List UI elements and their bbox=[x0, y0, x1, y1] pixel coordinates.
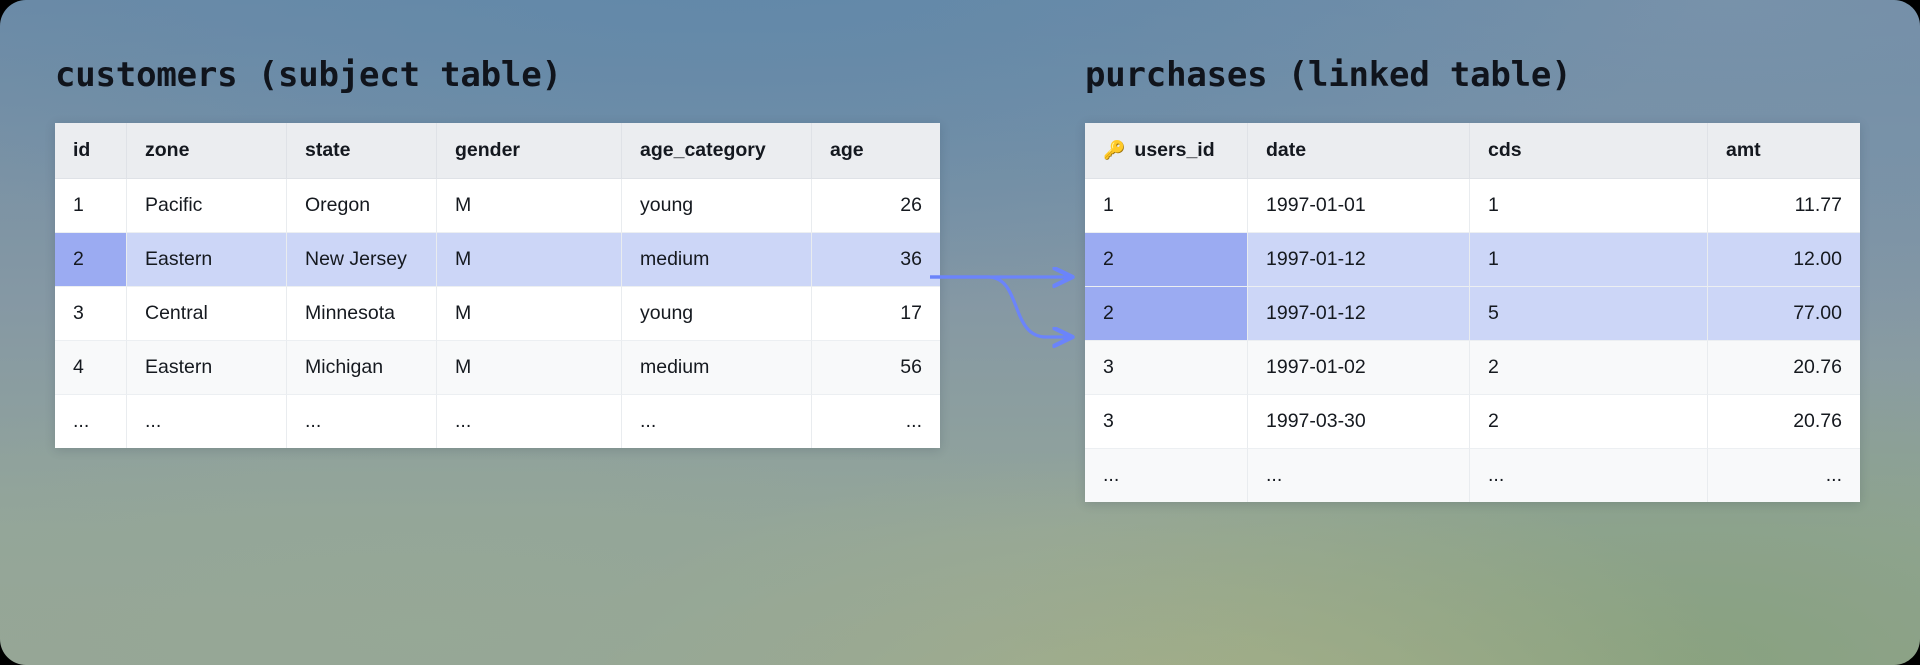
table-row[interactable]: 2 1997-01-12 5 77.00 bbox=[1085, 287, 1860, 341]
cell-amt: 77.00 bbox=[1708, 287, 1860, 341]
cell-date: 1997-01-02 bbox=[1248, 341, 1470, 395]
cell-age-category: young bbox=[622, 179, 812, 233]
cell-amt: 20.76 bbox=[1708, 341, 1860, 395]
diagram-canvas: customers (subject table) id zone state … bbox=[0, 0, 1920, 665]
cell-cds: 2 bbox=[1470, 395, 1708, 449]
cell-state: New Jersey bbox=[287, 233, 437, 287]
cell-users-id: 2 bbox=[1085, 233, 1248, 287]
cell-users-id: 3 bbox=[1085, 395, 1248, 449]
column-header-zone[interactable]: zone bbox=[127, 123, 287, 179]
cell-cds: 2 bbox=[1470, 341, 1708, 395]
column-header-amt[interactable]: amt bbox=[1708, 123, 1860, 179]
cell-age-category: young bbox=[622, 287, 812, 341]
cell-id: 2 bbox=[55, 233, 127, 287]
table-row[interactable]: 4 Eastern Michigan M medium 56 bbox=[55, 341, 940, 395]
cell-gender: ... bbox=[437, 395, 622, 448]
cell-state: Oregon bbox=[287, 179, 437, 233]
cell-zone: Central bbox=[127, 287, 287, 341]
cell-age-category: ... bbox=[622, 395, 812, 448]
cell-users-id: 1 bbox=[1085, 179, 1248, 233]
table-row[interactable]: 3 1997-03-30 2 20.76 bbox=[1085, 395, 1860, 449]
cell-age: 36 bbox=[812, 233, 940, 287]
cell-users-id: ... bbox=[1085, 449, 1248, 502]
cell-cds: 5 bbox=[1470, 287, 1708, 341]
cell-cds: 1 bbox=[1470, 179, 1708, 233]
cell-amt: ... bbox=[1708, 449, 1860, 502]
purchases-panel: purchases (linked table) 🔑users_id date … bbox=[1085, 0, 1860, 502]
purchases-table: 🔑users_id date cds amt 1 1997-01-01 1 11… bbox=[1085, 123, 1860, 502]
cell-age: ... bbox=[812, 395, 940, 448]
cell-age-category: medium bbox=[622, 233, 812, 287]
table-row-ellipsis: ... ... ... ... bbox=[1085, 449, 1860, 502]
cell-date: ... bbox=[1248, 449, 1470, 502]
cell-date: 1997-01-12 bbox=[1248, 233, 1470, 287]
column-header-users-id[interactable]: 🔑users_id bbox=[1085, 123, 1248, 179]
cell-gender: M bbox=[437, 233, 622, 287]
cell-id: 1 bbox=[55, 179, 127, 233]
cell-state: Michigan bbox=[287, 341, 437, 395]
table-row[interactable]: 3 Central Minnesota M young 17 bbox=[55, 287, 940, 341]
cell-date: 1997-01-12 bbox=[1248, 287, 1470, 341]
purchases-table-title: purchases (linked table) bbox=[1085, 55, 1860, 95]
cell-users-id: 3 bbox=[1085, 341, 1248, 395]
column-header-id[interactable]: id bbox=[55, 123, 127, 179]
column-header-state[interactable]: state bbox=[287, 123, 437, 179]
customers-header-row: id zone state gender age_category age bbox=[55, 123, 940, 179]
column-header-age[interactable]: age bbox=[812, 123, 940, 179]
column-header-users-id-label: users_id bbox=[1134, 139, 1214, 161]
customers-table: id zone state gender age_category age 1 … bbox=[55, 123, 940, 448]
cell-users-id: 2 bbox=[1085, 287, 1248, 341]
cell-age: 56 bbox=[812, 341, 940, 395]
cell-cds: ... bbox=[1470, 449, 1708, 502]
join-arrows bbox=[930, 255, 1090, 405]
customers-panel: customers (subject table) id zone state … bbox=[55, 0, 940, 448]
cell-age: 26 bbox=[812, 179, 940, 233]
column-header-date[interactable]: date bbox=[1248, 123, 1470, 179]
table-row[interactable]: 1 1997-01-01 1 11.77 bbox=[1085, 179, 1860, 233]
cell-age: 17 bbox=[812, 287, 940, 341]
cell-date: 1997-01-01 bbox=[1248, 179, 1470, 233]
column-header-age-category[interactable]: age_category bbox=[622, 123, 812, 179]
cell-amt: 11.77 bbox=[1708, 179, 1860, 233]
table-row-ellipsis: ... ... ... ... ... ... bbox=[55, 395, 940, 448]
cell-age-category: medium bbox=[622, 341, 812, 395]
cell-state: Minnesota bbox=[287, 287, 437, 341]
cell-id: 3 bbox=[55, 287, 127, 341]
table-row[interactable]: 2 Eastern New Jersey M medium 36 bbox=[55, 233, 940, 287]
table-row[interactable]: 2 1997-01-12 1 12.00 bbox=[1085, 233, 1860, 287]
cell-amt: 20.76 bbox=[1708, 395, 1860, 449]
table-row[interactable]: 3 1997-01-02 2 20.76 bbox=[1085, 341, 1860, 395]
customers-table-title: customers (subject table) bbox=[55, 55, 940, 95]
cell-zone: Eastern bbox=[127, 233, 287, 287]
key-icon: 🔑 bbox=[1103, 140, 1125, 160]
cell-zone: ... bbox=[127, 395, 287, 448]
cell-id: ... bbox=[55, 395, 127, 448]
cell-amt: 12.00 bbox=[1708, 233, 1860, 287]
cell-cds: 1 bbox=[1470, 233, 1708, 287]
cell-gender: M bbox=[437, 287, 622, 341]
column-header-cds[interactable]: cds bbox=[1470, 123, 1708, 179]
cell-zone: Eastern bbox=[127, 341, 287, 395]
cell-state: ... bbox=[287, 395, 437, 448]
cell-zone: Pacific bbox=[127, 179, 287, 233]
cell-gender: M bbox=[437, 179, 622, 233]
arrow-curved bbox=[930, 277, 1070, 337]
column-header-gender[interactable]: gender bbox=[437, 123, 622, 179]
cell-id: 4 bbox=[55, 341, 127, 395]
cell-gender: M bbox=[437, 341, 622, 395]
cell-date: 1997-03-30 bbox=[1248, 395, 1470, 449]
table-row[interactable]: 1 Pacific Oregon M young 26 bbox=[55, 179, 940, 233]
purchases-header-row: 🔑users_id date cds amt bbox=[1085, 123, 1860, 179]
